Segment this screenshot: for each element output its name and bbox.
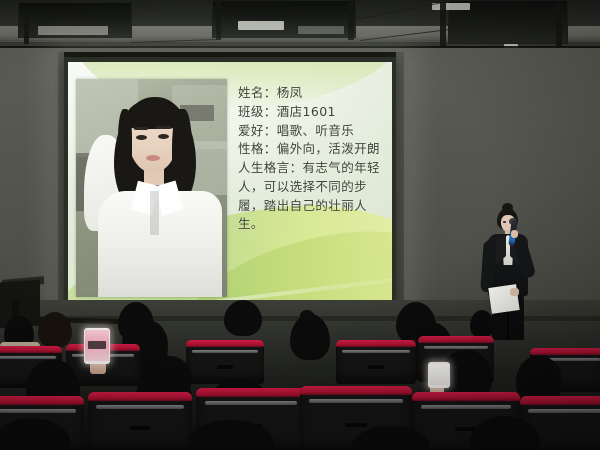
audience-hairbun-1 [300, 310, 314, 321]
ceiling-post-center [216, 0, 221, 40]
seat-top-trim [412, 392, 520, 401]
seat-top-trim [300, 386, 412, 395]
audience-phone-left[interactable] [84, 328, 110, 364]
seat-top-trim [196, 388, 306, 397]
audience-area [0, 300, 600, 450]
audience-head-back-9 [470, 310, 494, 338]
seat-top-trim [336, 340, 416, 347]
photo-lips [146, 155, 160, 161]
seat-hole [130, 426, 151, 430]
presenter-hand-holding-mic [511, 230, 518, 238]
seat-bar [528, 409, 600, 413]
ceiling-post-far-right [556, 2, 562, 46]
phone-screen-content [88, 341, 105, 349]
seat-row1-4 [336, 340, 416, 384]
audience-head-mid-3 [148, 356, 192, 396]
seat-row1-3 [186, 340, 264, 384]
presentation-slide: 百度图片 姓名：杨凤 班级：酒店1601 爱好：唱歌、听音乐 性格：偏外向，活泼… [68, 62, 392, 311]
ceiling-post-right [440, 2, 446, 46]
slide-line-motto: 人生格言：有志气的年轻人，可以选择不同的步履，踏出自己的壮丽人生。 [238, 159, 386, 234]
seat-top-trim [186, 340, 264, 347]
seat-bar [0, 409, 76, 413]
seat-hole [217, 365, 233, 369]
ceiling-area [0, 0, 600, 52]
photo-eye-left [136, 135, 147, 140]
photo-shirt-shadow [150, 191, 159, 235]
auditorium-photo: 百度图片 姓名：杨凤 班级：酒店1601 爱好：唱歌、听音乐 性格：偏外向，活泼… [0, 0, 600, 450]
seat-bar [421, 405, 512, 409]
seat-bar [96, 405, 183, 409]
seat-bar [192, 350, 258, 353]
student-portrait-photo: 百度图片 [76, 79, 227, 297]
seat-top-trim [0, 396, 84, 405]
phone-screen-left [85, 330, 109, 361]
seat-hole [345, 423, 367, 427]
seat-top-trim [88, 392, 192, 401]
audience-phone-right[interactable] [428, 362, 450, 388]
ceiling-post-left [24, 12, 29, 44]
slide-line-hobby: 爱好：唱歌、听音乐 [238, 122, 386, 141]
presenter-eye-left [503, 221, 506, 223]
slide-photo-watermark: 百度图片 [82, 287, 100, 293]
ceiling-light-left [38, 26, 108, 35]
ceiling-light-center [238, 21, 284, 30]
seat-bar [0, 356, 56, 359]
slide-line-class: 班级：酒店1601 [238, 103, 386, 122]
audience-head-back-2 [38, 312, 72, 348]
seat-bar [205, 401, 297, 405]
seat-top-trim [530, 348, 600, 355]
audience-head-back-5 [224, 300, 262, 336]
audience-head-back-6 [290, 314, 330, 360]
seat-bar [424, 346, 488, 349]
seat-row2-2 [88, 392, 192, 450]
slide-line-character: 性格：偏外向，活泼开朗 [238, 140, 386, 159]
slide-text-block: 姓名：杨凤 班级：酒店1601 爱好：唱歌、听音乐 性格：偏外向，活泼开朗 人生… [238, 84, 386, 234]
seat-top-trim [418, 336, 494, 343]
seat-hole [368, 365, 384, 369]
photo-eye-right [158, 134, 169, 139]
seat-bar [342, 350, 409, 353]
slide-line-name: 姓名：杨凤 [238, 84, 386, 103]
phone-screen-right [429, 364, 449, 385]
photo-eyebrow-right [156, 126, 171, 129]
photo-eyebrow-left [134, 127, 148, 130]
photo-hair-side-left [118, 109, 132, 181]
presenter-hand-holding-paper [510, 288, 519, 296]
seat-top-trim [520, 396, 600, 405]
seat-bar [309, 399, 403, 403]
projection-screen: 百度图片 姓名：杨凤 班级：酒店1601 爱好：唱歌、听音乐 性格：偏外向，活泼… [64, 57, 396, 315]
seat-top-trim [0, 346, 62, 353]
ceiling-light-center2 [298, 26, 344, 34]
ceiling-light-right [432, 3, 470, 10]
